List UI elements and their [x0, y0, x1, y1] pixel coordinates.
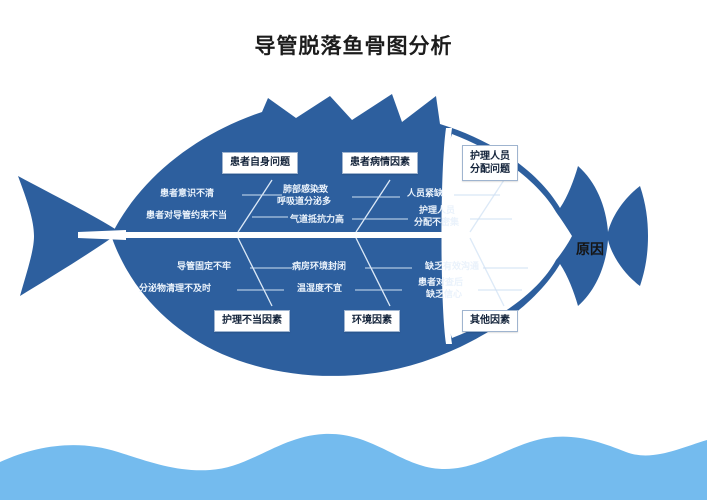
cause-label-staff-shortage: 人员紧缺 [407, 189, 443, 200]
category-box-other[interactable]: 其他因素 [462, 310, 518, 332]
fish-shape [18, 94, 648, 376]
cause-label-loose-catheter: 导管固定不牢 [177, 262, 231, 273]
cause-label-lung-infection: 肺部感染致 [283, 185, 328, 196]
head-label-cause: 原因 [576, 239, 604, 259]
fish-spine [78, 232, 450, 238]
category-box-patient-self[interactable]: 患者自身问题 [222, 152, 298, 174]
cause-label-patient-unconscious: 患者意识不清 [160, 189, 214, 200]
cause-label-sparse-allocation: 分配不密集 [414, 218, 459, 229]
category-box-nurse-allocation-line2: 分配问题 [470, 163, 510, 176]
cause-label-nursing-staff: 护理人员 [419, 206, 455, 217]
category-box-environment[interactable]: 环境因素 [344, 310, 400, 332]
cause-label-temp-humidity: 温湿度不宜 [297, 284, 342, 295]
category-box-nurse-allocation[interactable]: 护理人员 分配问题 [462, 145, 518, 181]
cause-label-closed-ward: 病房环境封闭 [292, 262, 346, 273]
cause-label-delayed-secretion-care: 分泌物清理不及时 [139, 284, 211, 295]
category-box-patient-condition[interactable]: 患者病情因素 [342, 152, 418, 174]
cause-label-patient-doubt: 患者对查后 [418, 278, 463, 289]
diagram-canvas: 导管脱落鱼骨图分析 [0, 0, 707, 500]
category-box-nurse-allocation-line1: 护理人员 [470, 150, 510, 163]
cause-label-airway-resistance: 气道抵抗力高 [290, 215, 344, 226]
category-box-improper-nursing[interactable]: 护理不当因素 [214, 310, 290, 332]
cause-label-poor-communication: 缺乏有效沟通 [425, 262, 479, 273]
water-wave [0, 434, 707, 500]
cause-label-improper-restraint: 患者对导管约束不当 [146, 211, 227, 222]
cause-label-lack-confidence: 缺乏信心 [426, 290, 462, 301]
cause-label-airway-secretion: 呼吸道分泌多 [277, 197, 331, 208]
page-title: 导管脱落鱼骨图分析 [0, 30, 707, 60]
